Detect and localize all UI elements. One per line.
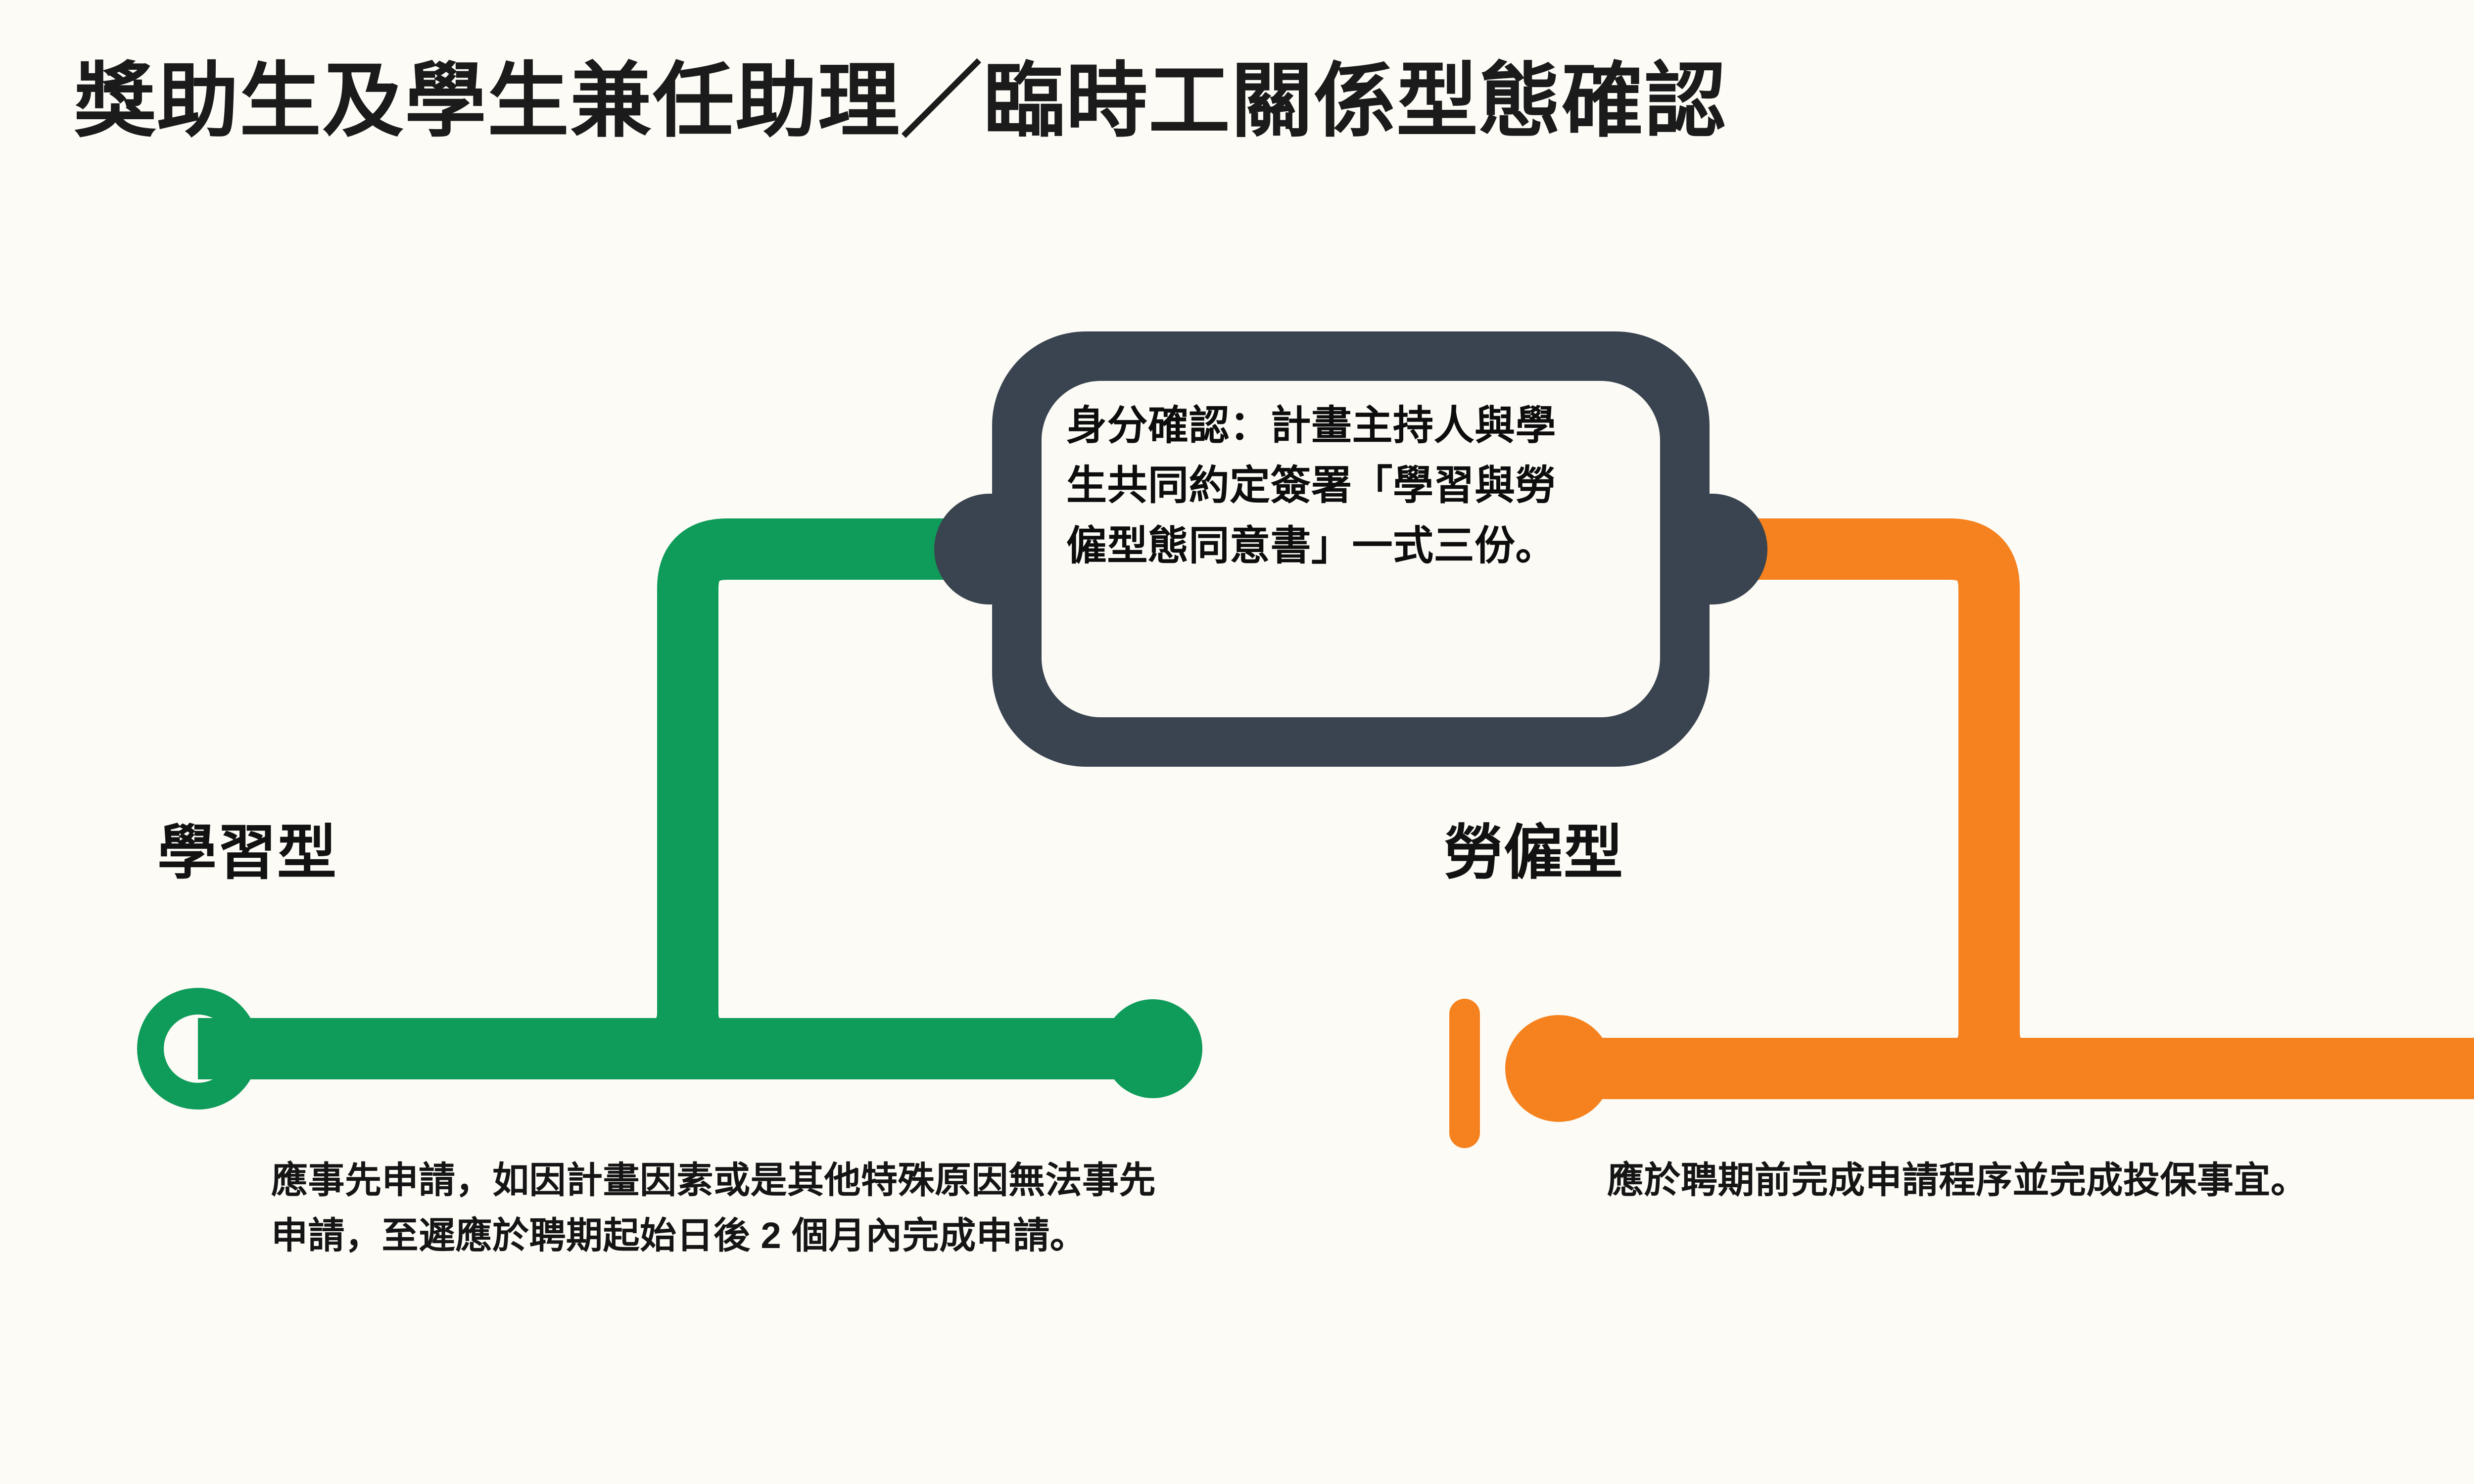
learning-end-dot-icon [1103,999,1202,1098]
branch-description-employment: 應於聘期前完成申請程序並完成投保事宜。 [1607,1153,2474,1208]
branch-description-learning: 應事先申請，如因計畫因素或是其他特殊原因無法事先申請，至遲應於聘期起始日後 2 … [271,1153,1157,1264]
employment-riser-pipe [1682,549,1989,1068]
branch-label-employment: 勞僱型 [1444,820,1623,885]
employment-start-dot-icon [1505,1015,1612,1122]
infographic-canvas: 獎助生及學生兼任助理／臨時工關係型態確認 [0,0,2474,1484]
learning-riser-pipe [688,549,1019,1049]
center-node-text: 身分確認：計畫主持人與學生共同約定簽署「學習與勞僱型態同意書」一式三份。 [1064,396,1559,576]
branch-label-learning: 學習型 [157,820,337,885]
